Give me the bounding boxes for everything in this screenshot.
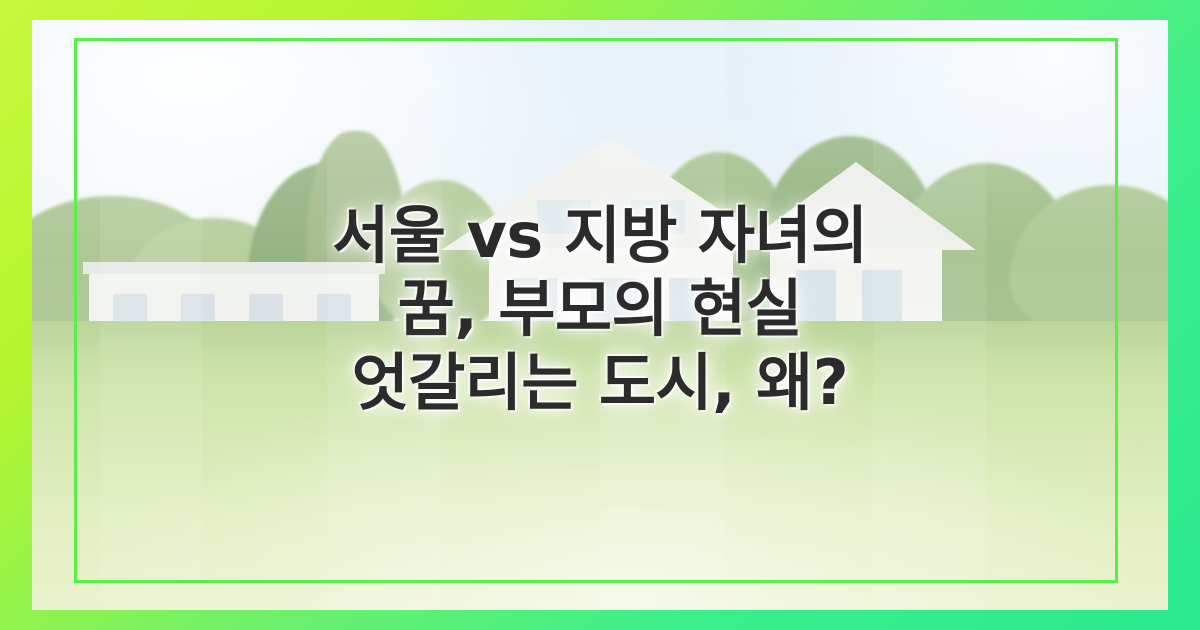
lawn-stripe [327,20,441,610]
thumbnail-canvas: 서울 vs 지방 자녀의 꿈, 부모의 현실 엇갈리는 도시, 왜? [0,0,1200,630]
lawn-stripe [600,20,725,610]
lawn-stripe [100,20,202,610]
house-window [537,200,591,234]
lawn-stripe [873,20,987,610]
background-photo [32,20,1168,610]
